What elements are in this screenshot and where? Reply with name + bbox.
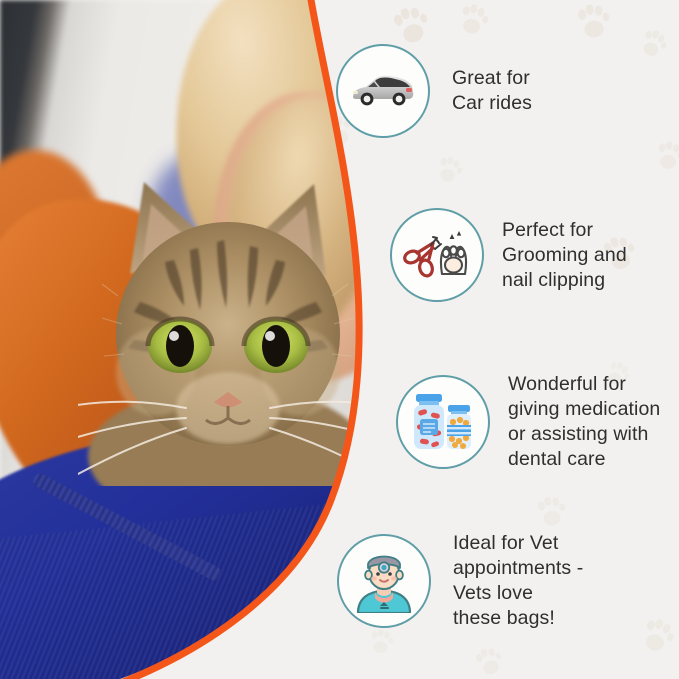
feature-item-car-rides[interactable]: Great for Car rides <box>336 44 532 138</box>
product-feature-infographic: Great for Car rides <box>0 0 679 679</box>
car-icon <box>336 44 430 138</box>
pill-bottles-icon <box>396 375 490 469</box>
feature-list: Great for Car rides <box>0 0 679 679</box>
feature-label: Perfect for Grooming and nail clipping <box>502 218 627 293</box>
nail-clippers-paw-icon <box>390 208 484 302</box>
feature-item-grooming[interactable]: Perfect for Grooming and nail clipping <box>390 208 627 302</box>
feature-label: Wonderful for giving medication or assis… <box>508 372 660 472</box>
feature-item-vet[interactable]: Ideal for Vet appointments - Vets love t… <box>337 531 583 631</box>
feature-label: Ideal for Vet appointments - Vets love t… <box>453 531 583 631</box>
feature-label: Great for Car rides <box>452 66 532 116</box>
feature-item-medication[interactable]: Wonderful for giving medication or assis… <box>396 372 660 472</box>
veterinarian-icon <box>337 534 431 628</box>
